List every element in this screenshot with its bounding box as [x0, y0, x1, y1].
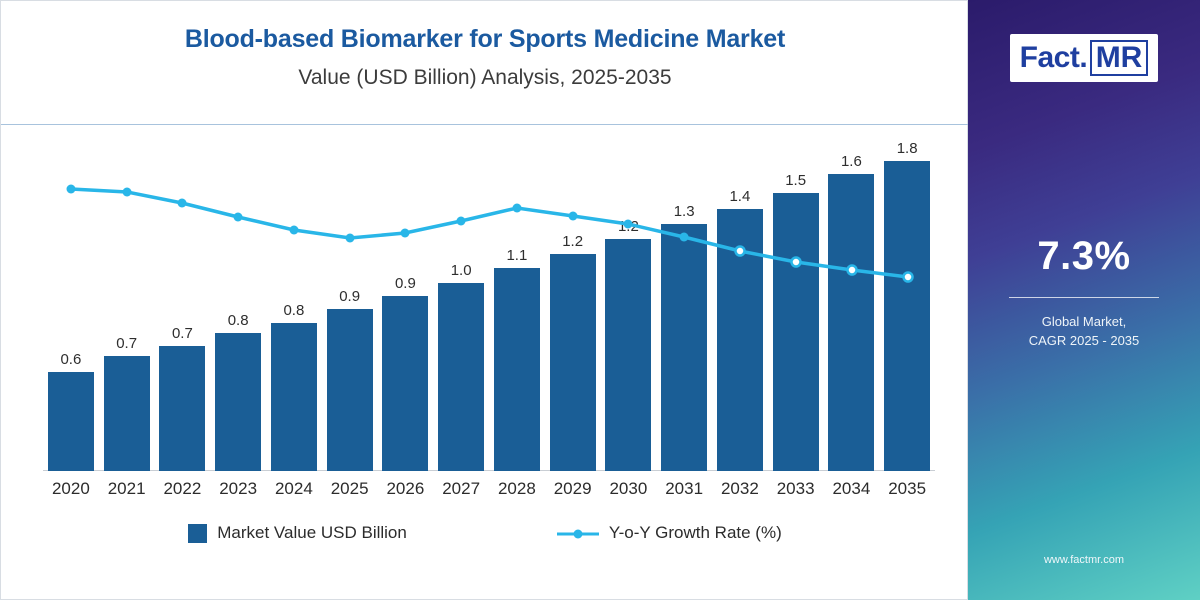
bar-group-2020: 0.6 — [43, 141, 99, 471]
bar[interactable] — [48, 372, 94, 471]
bar-value-label: 0.9 — [339, 289, 360, 304]
bar-group-2028: 1.1 — [489, 141, 545, 471]
x-tick: 2025 — [322, 479, 378, 499]
chart-legend: Market Value USD Billion Y-o-Y Growth Ra… — [1, 523, 969, 543]
bar[interactable] — [438, 283, 484, 471]
bar-value-label: 1.2 — [618, 219, 639, 234]
cagr-divider — [1009, 297, 1159, 298]
bar-value-label: 1.4 — [729, 189, 750, 204]
x-tick: 2030 — [601, 479, 657, 499]
x-tick: 2035 — [879, 479, 935, 499]
x-tick: 2026 — [378, 479, 434, 499]
x-axis-ticks: 2020 2021 2022 2023 2024 2025 2026 2027 … — [43, 479, 935, 499]
x-tick: 2021 — [99, 479, 155, 499]
chart-subtitle: Value (USD Billion) Analysis, 2025-2035 — [1, 66, 969, 90]
logo-mr-text: MR — [1090, 40, 1149, 76]
bar-value-label: 0.8 — [228, 313, 249, 328]
bar[interactable] — [717, 209, 763, 471]
bar-group-2024: 0.8 — [266, 141, 322, 471]
bar[interactable] — [382, 296, 428, 471]
brand-panel: Fact . MR 7.3% Global Market, CAGR 2025 … — [968, 0, 1200, 600]
x-tick: 2023 — [210, 479, 266, 499]
bar[interactable] — [104, 356, 150, 471]
cagr-caption-line-2: CAGR 2025 - 2035 — [1029, 331, 1140, 351]
bar[interactable] — [884, 161, 930, 471]
factmr-logo: Fact . MR — [1010, 34, 1159, 82]
cagr-caption-line-1: Global Market, — [1029, 312, 1140, 332]
bar-value-label: 0.6 — [60, 352, 81, 367]
x-tick: 2033 — [768, 479, 824, 499]
legend-label: Y-o-Y Growth Rate (%) — [609, 523, 782, 543]
brand-url[interactable]: www.factmr.com — [978, 554, 1190, 566]
x-tick: 2034 — [824, 479, 880, 499]
bar[interactable] — [327, 309, 373, 471]
bar-series: 0.6 0.7 0.7 0.8 0.8 — [43, 141, 935, 471]
bar[interactable] — [271, 323, 317, 471]
bar-group-2031: 1.3 — [656, 141, 712, 471]
bar[interactable] — [605, 239, 651, 471]
x-tick: 2032 — [712, 479, 768, 499]
cagr-value: 7.3% — [1037, 234, 1130, 279]
legend-item-growth-rate[interactable]: Y-o-Y Growth Rate (%) — [557, 523, 782, 543]
x-tick: 2028 — [489, 479, 545, 499]
bar-value-label: 1.6 — [841, 154, 862, 169]
x-tick: 2020 — [43, 479, 99, 499]
bar-group-2032: 1.4 — [712, 141, 768, 471]
bar-group-2025: 0.9 — [322, 141, 378, 471]
bar[interactable] — [215, 333, 261, 471]
x-tick: 2024 — [266, 479, 322, 499]
bar-group-2022: 0.7 — [155, 141, 211, 471]
line-marker-icon — [557, 526, 599, 540]
bar-value-label: 0.7 — [116, 336, 137, 351]
legend-item-market-value[interactable]: Market Value USD Billion — [188, 523, 407, 543]
bar-group-2021: 0.7 — [99, 141, 155, 471]
bar-group-2035: 1.8 — [879, 141, 935, 471]
bar-value-label: 1.0 — [451, 263, 472, 278]
bar-value-label: 0.7 — [172, 326, 193, 341]
chart-header: Blood-based Biomarker for Sports Medicin… — [1, 11, 969, 90]
bar-group-2029: 1.2 — [545, 141, 601, 471]
x-tick: 2027 — [433, 479, 489, 499]
bar-value-label: 0.9 — [395, 276, 416, 291]
chart-title: Blood-based Biomarker for Sports Medicin… — [1, 25, 969, 54]
cagr-caption: Global Market, CAGR 2025 - 2035 — [1029, 312, 1140, 351]
bar-value-label: 0.8 — [283, 303, 304, 318]
bar-value-label: 1.1 — [506, 248, 527, 263]
plot-area: 0.6 0.7 0.7 0.8 0.8 — [43, 141, 935, 471]
legend-label: Market Value USD Billion — [217, 523, 407, 543]
bar-group-2023: 0.8 — [210, 141, 266, 471]
bar[interactable] — [494, 268, 540, 471]
x-tick: 2022 — [155, 479, 211, 499]
bar-group-2026: 0.9 — [378, 141, 434, 471]
bar[interactable] — [773, 193, 819, 471]
logo-fact-text: Fact — [1020, 41, 1080, 75]
bar-group-2027: 1.0 — [433, 141, 489, 471]
logo-dot-text: . — [1079, 41, 1087, 75]
bar-group-2033: 1.5 — [768, 141, 824, 471]
x-tick: 2029 — [545, 479, 601, 499]
bar-value-label: 1.3 — [674, 204, 695, 219]
infographic-root: Blood-based Biomarker for Sports Medicin… — [0, 0, 1200, 600]
chart-panel: Blood-based Biomarker for Sports Medicin… — [0, 0, 968, 600]
bar[interactable] — [828, 174, 874, 471]
bar[interactable] — [159, 346, 205, 471]
bar-value-label: 1.2 — [562, 234, 583, 249]
bar-value-label: 1.5 — [785, 173, 806, 188]
bar-value-label: 1.8 — [897, 141, 918, 156]
bar-group-2034: 1.6 — [824, 141, 880, 471]
bar[interactable] — [550, 254, 596, 471]
square-marker-icon — [188, 524, 207, 543]
bar-group-2030: 1.2 — [601, 141, 657, 471]
x-tick: 2031 — [656, 479, 712, 499]
header-divider — [1, 124, 969, 125]
brand-inner: Fact . MR 7.3% Global Market, CAGR 2025 … — [978, 10, 1190, 590]
bar[interactable] — [661, 224, 707, 471]
